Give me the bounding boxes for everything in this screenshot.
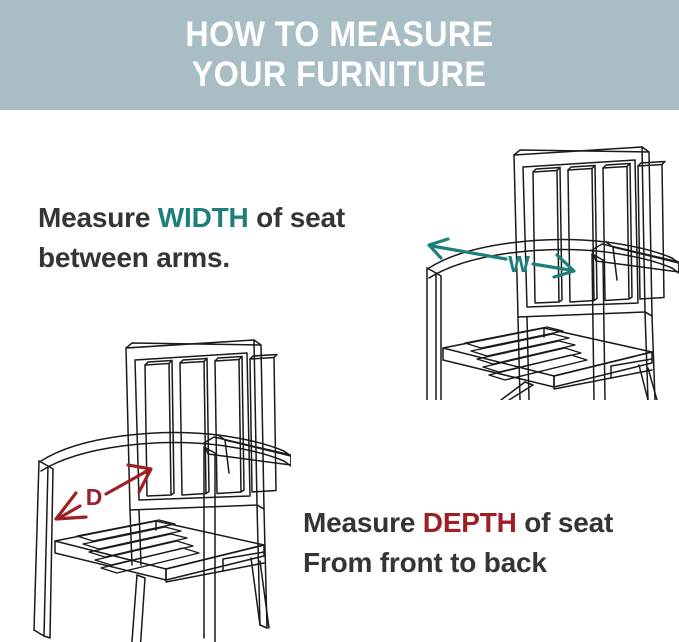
chair-seat-frame xyxy=(443,328,652,387)
depth-caption-prefix: Measure xyxy=(303,507,423,538)
depth-caption-suffix: of seat xyxy=(517,507,613,538)
chair-seat-frame xyxy=(55,521,264,580)
depth-keyword: DEPTH xyxy=(423,507,517,538)
chair-rear-leg xyxy=(127,575,145,642)
depth-caption: Measure DEPTH of seat From front to back xyxy=(303,503,613,583)
width-dimension-label: W xyxy=(508,251,530,277)
header-title-line-1: HOW TO MEASURE xyxy=(185,15,493,55)
chair-arm-rail xyxy=(429,240,679,280)
depth-caption-line-2: From front to back xyxy=(303,543,613,583)
header-title-line-2: YOUR FURNITURE xyxy=(192,55,486,95)
chair-line-drawing-svg: D xyxy=(8,325,291,642)
width-caption-line-1: Measure WIDTH of seat xyxy=(38,198,345,238)
chair-backrest xyxy=(514,147,665,317)
chair-line-drawing-svg: W xyxy=(396,132,679,400)
depth-chair-illustration: D xyxy=(8,325,291,642)
width-keyword: WIDTH xyxy=(158,202,249,233)
infographic-root: HOW TO MEASURE YOUR FURNITURE Measure WI… xyxy=(0,0,679,642)
chair-arm-rail xyxy=(41,433,291,473)
depth-dimension-label: D xyxy=(86,484,103,510)
width-chair-illustration: W xyxy=(396,132,679,400)
depth-caption-line-1: Measure DEPTH of seat xyxy=(303,503,613,543)
chair-left-front-post xyxy=(34,461,53,638)
width-caption: Measure WIDTH of seat between arms. xyxy=(38,198,345,278)
header-banner: HOW TO MEASURE YOUR FURNITURE xyxy=(0,0,679,110)
chair-backrest xyxy=(126,340,277,510)
width-caption-prefix: Measure xyxy=(38,202,158,233)
width-caption-suffix: of seat xyxy=(249,202,345,233)
chair-left-front-post xyxy=(427,268,441,400)
depth-dimension-arrow xyxy=(56,465,151,519)
width-caption-line-2: between arms. xyxy=(38,238,345,278)
